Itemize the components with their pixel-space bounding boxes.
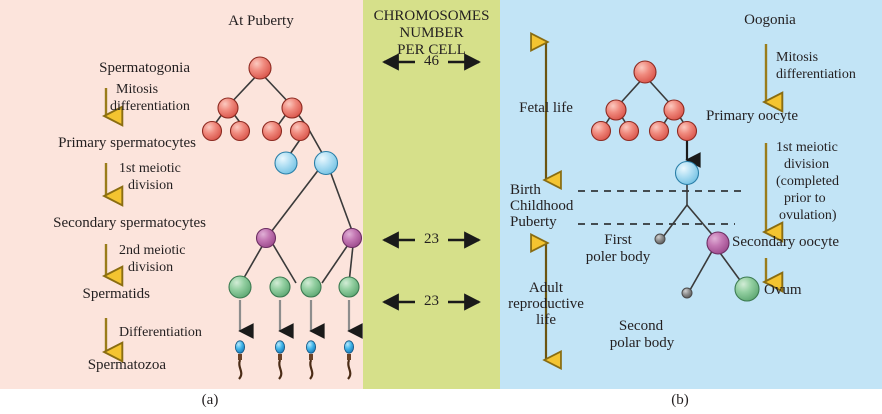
second-polar-body-line2: polar body bbox=[588, 335, 696, 352]
right-transition-meiosis-line2: division bbox=[784, 157, 829, 173]
timeline-label-adult-line3: life bbox=[496, 312, 596, 329]
chromosome-count-haploid-secondary: 23 bbox=[407, 231, 456, 248]
transition-first-meiosis-line2: division bbox=[128, 178, 173, 194]
center-heading-line1: CHROMOSOMES bbox=[363, 8, 500, 25]
first-polar-body-line1: First bbox=[578, 232, 658, 249]
transition-differentiation: Differentiation bbox=[119, 325, 202, 341]
second-polar-body-line1: Second bbox=[598, 318, 684, 335]
timeline-label-birth: Birth bbox=[510, 182, 541, 199]
right-transition-meiosis-line3: (completed bbox=[776, 174, 839, 190]
stage-label-primary-spermatocytes: Primary spermatocytes bbox=[0, 135, 196, 152]
timeline-label-adult-line2: reproductive bbox=[496, 296, 596, 313]
transition-second-meiosis-line1: 2nd meiotic bbox=[119, 243, 186, 259]
right-transition-meiosis-line5: ovulation) bbox=[779, 208, 837, 224]
right-transition-meiosis-line1: 1st meiotic bbox=[776, 140, 838, 156]
caption-b: (b) bbox=[650, 392, 710, 409]
timeline-label-adult-line1: Adult bbox=[496, 280, 596, 297]
right-transition-meiosis-line4: prior to bbox=[784, 191, 826, 207]
stage-label-spermatogonia: Spermatogonia bbox=[0, 60, 190, 77]
stage-label-secondary-spermatocytes: Secondary spermatocytes bbox=[0, 215, 206, 232]
right-transition-mitosis-line2: differentiation bbox=[776, 67, 856, 83]
timeline-label-childhood: Childhood bbox=[510, 198, 573, 215]
stage-label-ovum: Ovum bbox=[764, 282, 802, 299]
stage-label-secondary-oocyte: Secondary oocyte bbox=[732, 234, 839, 251]
chromosome-count-diploid: 46 bbox=[407, 53, 456, 70]
chromosome-count-haploid-gamete: 23 bbox=[407, 293, 456, 310]
caption-a: (a) bbox=[180, 392, 240, 409]
transition-mitosis-line1: Mitosis bbox=[116, 82, 158, 98]
transition-mitosis-line2: differentiation bbox=[110, 99, 190, 115]
figure-root: At Puberty Spermatogonia Mitosis differe… bbox=[0, 0, 882, 414]
stage-label-oogonia: Oogonia bbox=[720, 12, 820, 29]
first-polar-body-line2: poler body bbox=[566, 249, 670, 266]
at-puberty-label: At Puberty bbox=[205, 13, 317, 30]
timeline-label-fetal-life: Fetal life bbox=[506, 100, 586, 117]
right-transition-mitosis-line1: Mitosis bbox=[776, 50, 818, 66]
transition-second-meiosis-line2: division bbox=[128, 260, 173, 276]
center-heading-line2: NUMBER bbox=[363, 25, 500, 42]
timeline-label-puberty: Puberty bbox=[510, 214, 557, 231]
stage-label-spermatids: Spermatids bbox=[0, 286, 150, 303]
stage-label-primary-oocyte: Primary oocyte bbox=[706, 108, 798, 125]
stage-label-spermatozoa: Spermatozoa bbox=[0, 357, 166, 374]
transition-first-meiosis-line1: 1st meiotic bbox=[119, 161, 181, 177]
